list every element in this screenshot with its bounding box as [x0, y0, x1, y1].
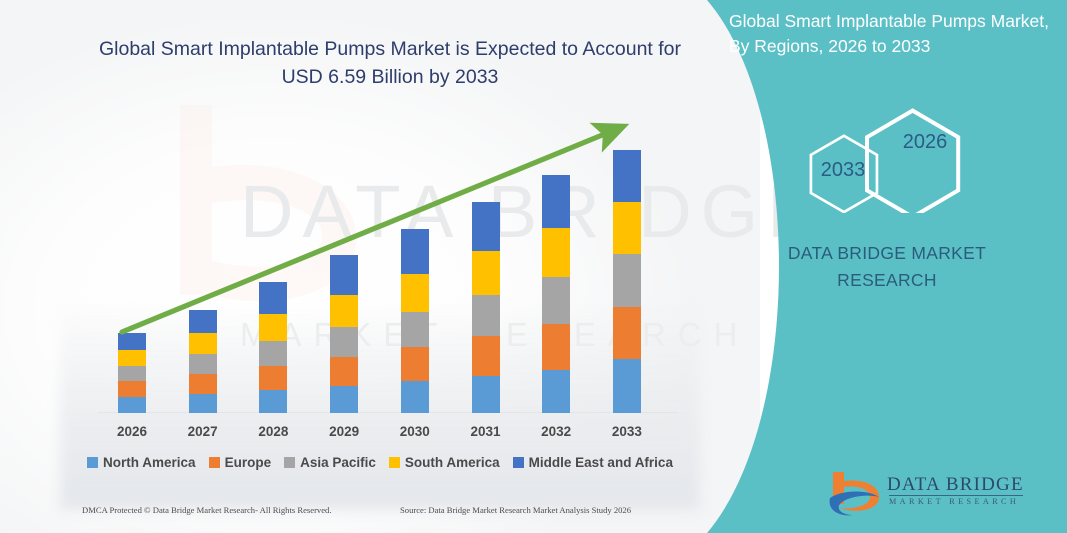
bar-2027 [189, 310, 217, 413]
x-axis-label-2031: 2031 [456, 424, 516, 439]
bar-2026 [118, 333, 146, 413]
bar-2031 [472, 202, 500, 413]
plot-area: 20262027202820292030203120322033 [0, 0, 760, 533]
logo-divider [889, 495, 1023, 496]
bar-segment-south-america [542, 228, 570, 277]
panel-brand-line1: DATA BRIDGE MARKET [727, 240, 1047, 267]
footer-copyright: DMCA Protected © Data Bridge Market Rese… [82, 505, 332, 515]
bar-segment-south-america [118, 350, 146, 366]
legend-swatch [209, 457, 220, 468]
bar-2028 [259, 282, 287, 413]
footer: DMCA Protected © Data Bridge Market Rese… [0, 505, 720, 529]
legend-item-south-america[interactable]: South America [389, 455, 500, 470]
bar-segment-north-america [613, 359, 641, 413]
bar-segment-europe [330, 357, 358, 386]
bar-2033 [613, 150, 641, 413]
hexagon-2026-label: 2026 [903, 131, 948, 153]
bar-segment-north-america [118, 397, 146, 413]
x-axis-label-2028: 2028 [243, 424, 303, 439]
bar-segment-europe [189, 374, 217, 394]
bar-segment-europe [613, 307, 641, 359]
x-axis-label-2033: 2033 [597, 424, 657, 439]
bar-segment-asia-pacific [189, 354, 217, 374]
hexagon-2026-shape [867, 111, 958, 213]
legend-swatch [284, 457, 295, 468]
bar-segment-asia-pacific [401, 312, 429, 347]
bar-segment-asia-pacific [330, 327, 358, 357]
bar-segment-asia-pacific [613, 254, 641, 307]
legend-item-middle-east-and-africa[interactable]: Middle East and Africa [513, 455, 673, 470]
chart-legend: North AmericaEuropeAsia PacificSouth Ame… [0, 455, 760, 470]
legend-label: North America [103, 455, 196, 470]
x-axis-label-2030: 2030 [385, 424, 445, 439]
legend-label: South America [405, 455, 500, 470]
bar-segment-middle-east-and-africa [189, 310, 217, 333]
bar-segment-north-america [472, 376, 500, 413]
bar-segment-north-america [542, 370, 570, 413]
bar-segment-north-america [259, 390, 287, 413]
x-axis-label-2027: 2027 [173, 424, 233, 439]
axis-baseline [98, 412, 678, 413]
bar-segment-middle-east-and-africa [330, 255, 358, 295]
growth-trend-arrow [0, 0, 760, 440]
bar-segment-middle-east-and-africa [259, 282, 287, 314]
bar-segment-south-america [189, 333, 217, 354]
footer-source: Source: Data Bridge Market Research Mark… [400, 505, 631, 515]
bar-segment-middle-east-and-africa [401, 229, 429, 274]
logo-subtitle: MARKET RESEARCH [889, 497, 1019, 506]
legend-swatch [389, 457, 400, 468]
data-bridge-logo: DATA BRIDGE MARKET RESEARCH [827, 470, 1042, 526]
bar-segment-south-america [259, 314, 287, 341]
data-bridge-logo-icon [827, 470, 885, 520]
right-teal-panel: Global Smart Implantable Pumps Market, B… [707, 0, 1067, 533]
bar-segment-europe [472, 336, 500, 376]
bar-2030 [401, 229, 429, 413]
bar-segment-middle-east-and-africa [118, 333, 146, 350]
logo-title: DATA BRIDGE [887, 474, 1024, 496]
legend-label: Asia Pacific [300, 455, 376, 470]
legend-item-asia-pacific[interactable]: Asia Pacific [284, 455, 376, 470]
bar-segment-europe [118, 381, 146, 397]
bar-segment-europe [259, 366, 287, 390]
bar-segment-south-america [613, 202, 641, 254]
bar-segment-asia-pacific [259, 341, 287, 366]
legend-item-europe[interactable]: Europe [209, 455, 272, 470]
bar-segment-south-america [401, 274, 429, 312]
x-axis-labels: 20262027202820292030203120322033 [0, 424, 760, 444]
bar-segment-north-america [330, 386, 358, 413]
hexagon-group: 2026 2033 [707, 88, 1067, 213]
bar-2029 [330, 255, 358, 413]
legend-swatch [87, 457, 98, 468]
legend-swatch [513, 457, 524, 468]
bar-segment-north-america [401, 381, 429, 413]
bar-segment-middle-east-and-africa [542, 175, 570, 228]
legend-label: Europe [225, 455, 272, 470]
bar-segment-asia-pacific [472, 295, 500, 336]
bar-2032 [542, 175, 570, 413]
bar-segment-south-america [472, 251, 500, 295]
panel-brand-text: DATA BRIDGE MARKET RESEARCH [727, 240, 1047, 294]
bar-segment-middle-east-and-africa [613, 150, 641, 202]
legend-label: Middle East and Africa [529, 455, 673, 470]
bar-segment-europe [542, 324, 570, 370]
bar-segment-asia-pacific [542, 277, 570, 324]
bar-segment-europe [401, 347, 429, 381]
panel-title: Global Smart Implantable Pumps Market, B… [729, 9, 1049, 60]
x-axis-label-2029: 2029 [314, 424, 374, 439]
x-axis-label-2032: 2032 [526, 424, 586, 439]
bar-segment-asia-pacific [118, 366, 146, 381]
legend-item-north-america[interactable]: North America [87, 455, 196, 470]
x-axis-label-2026: 2026 [102, 424, 162, 439]
bar-segment-south-america [330, 295, 358, 327]
panel-brand-line2: RESEARCH [727, 267, 1047, 294]
chart-infographic: DATA BRIDGE MARKET RESEARCH Global Smart… [0, 0, 1067, 533]
hexagon-2033-label: 2033 [821, 159, 866, 181]
bar-segment-middle-east-and-africa [472, 202, 500, 251]
bar-segment-north-america [189, 394, 217, 413]
